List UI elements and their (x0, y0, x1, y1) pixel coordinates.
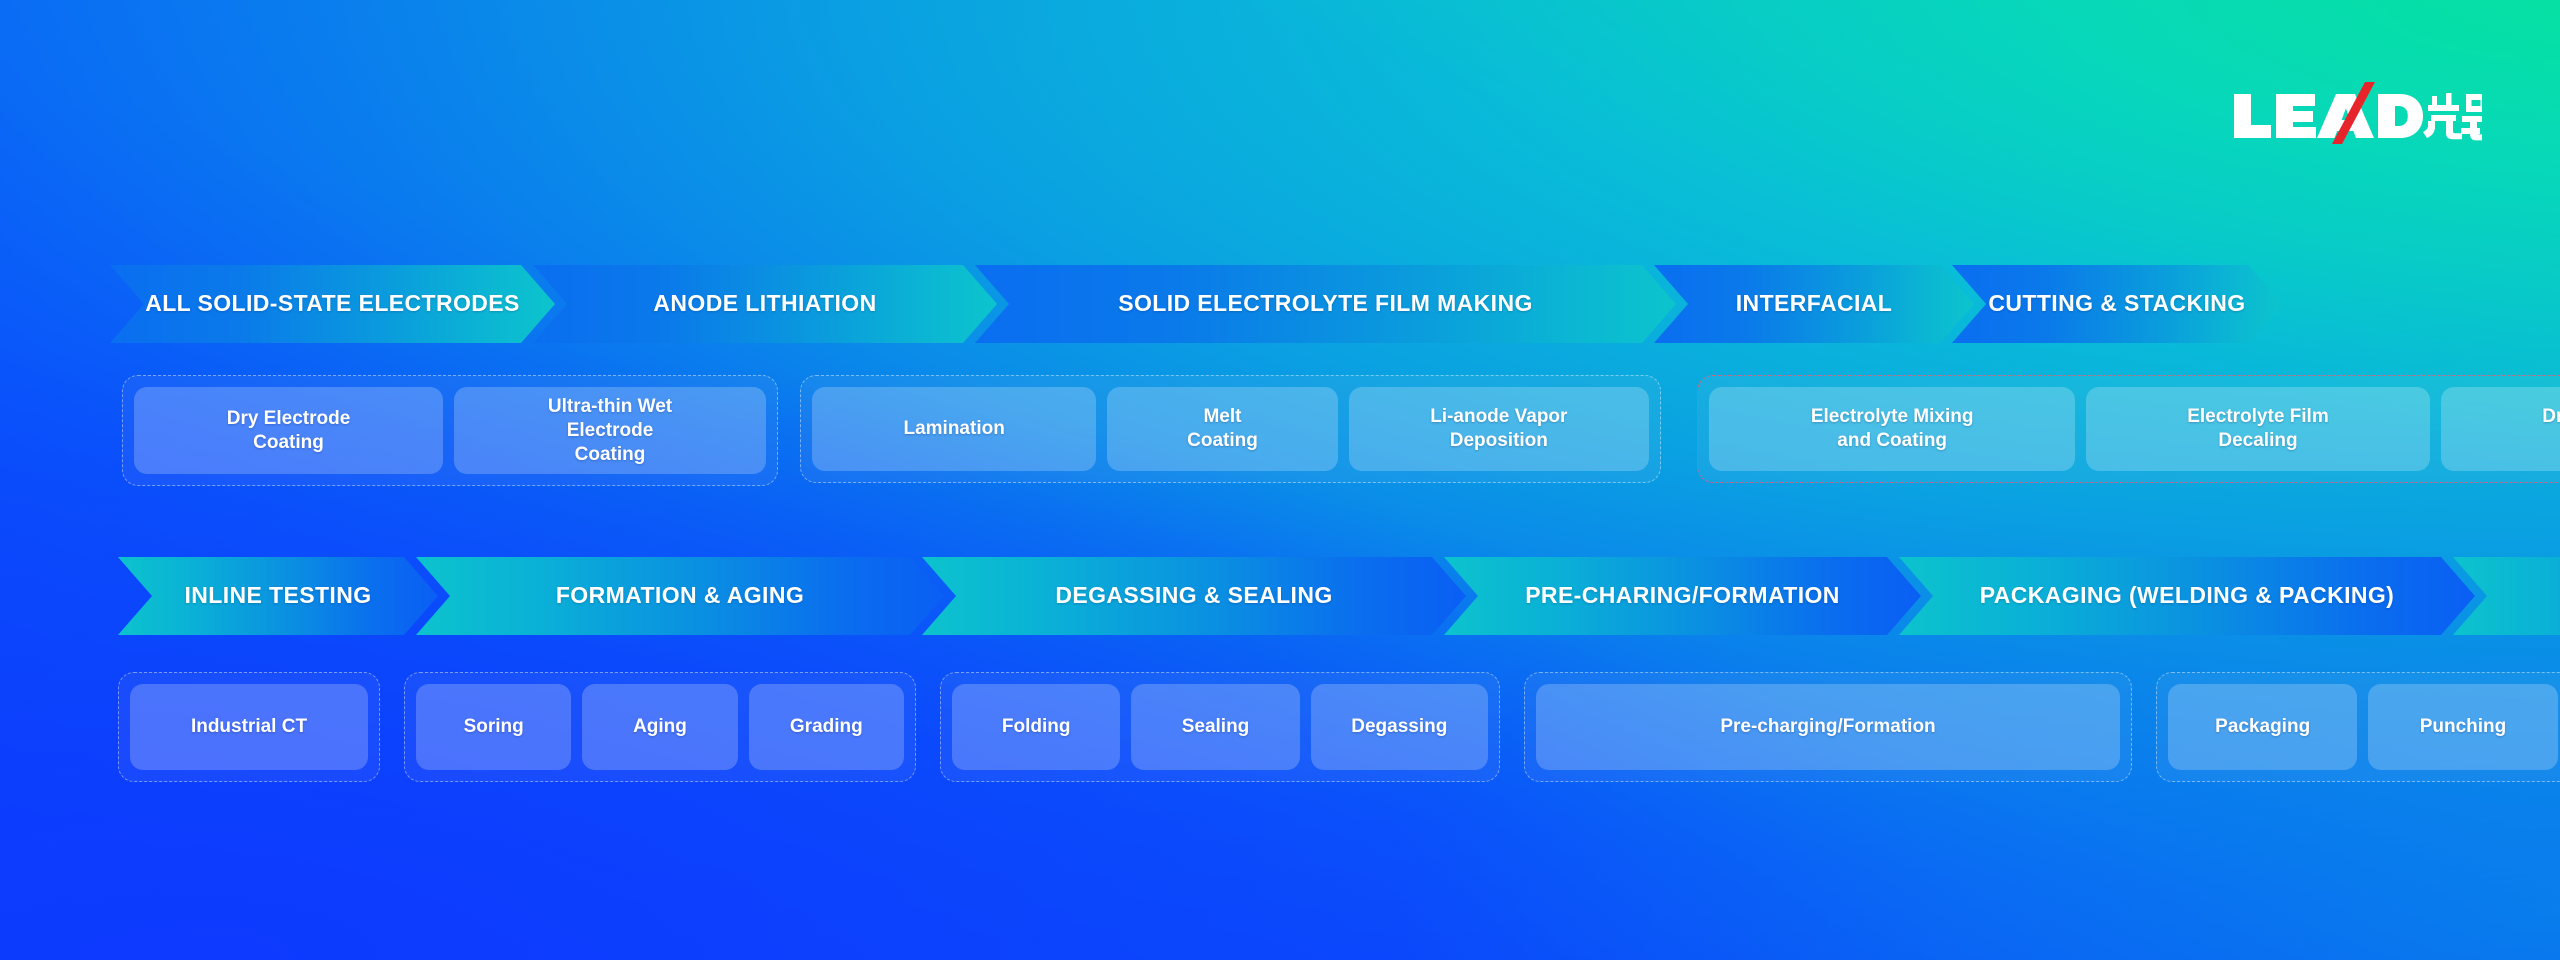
stage-ribbon-label: ALL SOLID-STATE ELECTRODES (127, 291, 538, 317)
process-card[interactable]: Lamination (812, 387, 1096, 471)
stage-ribbon[interactable]: PRE-CHARING/FORMATION (1444, 557, 1921, 635)
process-card[interactable]: Pre-charging/Formation (1536, 684, 2120, 770)
card-group: Pre-charging/Formation (1524, 672, 2132, 782)
stage-ribbon[interactable]: INLINE TESTING (118, 557, 438, 635)
process-card[interactable]: Electrolyte FilmDecaling (2086, 387, 2429, 471)
card-group: Dry ElectrodeCoatingUltra-thin WetElectr… (122, 375, 778, 486)
stage-ribbon[interactable]: CUTTING & STACKING (1952, 265, 2282, 343)
process-card[interactable]: Aging (582, 684, 737, 770)
stage-ribbon-label: INLINE TESTING (166, 583, 389, 609)
process-card[interactable]: Folding (952, 684, 1120, 770)
card-group: SoringAgingGrading (404, 672, 916, 782)
stage-ribbon-row-2: INLINE TESTINGFORMATION & AGINGDEGASSING… (0, 557, 2560, 635)
process-card[interactable]: Ultra-thin WetElectrodeCoating (454, 387, 766, 474)
stage-ribbon-label: INTERFACIAL (1718, 291, 1910, 317)
process-card[interactable]: Sealing (1131, 684, 1299, 770)
stage-ribbon-label: CUTTING & STACKING (1970, 291, 2263, 317)
stage-ribbon-label: PRE-CHARING/FORMATION (1507, 583, 1858, 609)
process-card[interactable]: MeltCoating (1107, 387, 1337, 471)
stage-ribbon[interactable]: FORMATION & AGING (416, 557, 944, 635)
process-card[interactable]: Dry ElectrodeCoating (134, 387, 443, 474)
process-card[interactable]: Electrolyte Mixingand Coating (1709, 387, 2075, 471)
stage-ribbon[interactable]: PACKAGING (WELDING & PACKING) (1899, 557, 2475, 635)
stage-ribbon-row-1: ALL SOLID-STATE ELECTRODESANODE LITHIATI… (0, 265, 2560, 343)
stage-ribbon-label: ANODE LITHIATION (635, 291, 894, 317)
card-group: LaminationMeltCoatingLi-anode VaporDepos… (800, 375, 1661, 483)
stage-ribbon[interactable]: ALL SOLID-STATE ELECTRODES (110, 265, 555, 343)
process-card[interactable]: Industrial CT (130, 684, 368, 770)
stage-ribbon[interactable]: ANODE LITHIATION (533, 265, 997, 343)
diagram-stage: ALL SOLID-STATE ELECTRODESANODE LITHIATI… (0, 0, 2560, 960)
lead-logo-icon (2232, 80, 2482, 146)
card-group: FoldingSealingDegassing (940, 672, 1500, 782)
stage-ribbon-label: PACKAGING (WELDING & PACKING) (1962, 583, 2413, 609)
stage-ribbon-label: DEGASSING & SEALING (1037, 583, 1350, 609)
stage-ribbon[interactable]: INTERFACIAL (1654, 265, 1974, 343)
card-group: PackagingPunchingWelding (2156, 672, 2560, 782)
stage-ribbon[interactable]: DEGASSING & SEALING (922, 557, 1466, 635)
process-card[interactable]: Degassing (1311, 684, 1488, 770)
stage-ribbon[interactable]: SOLID ELECTROLYTE FILM MAKING (975, 265, 1676, 343)
process-card[interactable]: Soring (416, 684, 571, 770)
lead-logo (2232, 80, 2482, 146)
stage-ribbon-label: FORMATION & AGING (538, 583, 822, 609)
process-card[interactable]: Dry ElectrolyteFilming (2441, 387, 2560, 471)
stage-ribbon-label: SOLID ELECTROLYTE FILM MAKING (1100, 291, 1551, 317)
process-card[interactable]: Grading (749, 684, 904, 770)
process-card[interactable]: Packaging (2168, 684, 2357, 770)
card-group: Electrolyte Mixingand CoatingElectrolyte… (1697, 375, 2560, 483)
process-card[interactable]: Li-anode VaporDeposition (1349, 387, 1649, 471)
card-group: Industrial CT (118, 672, 380, 782)
process-card[interactable]: Punching (2368, 684, 2557, 770)
